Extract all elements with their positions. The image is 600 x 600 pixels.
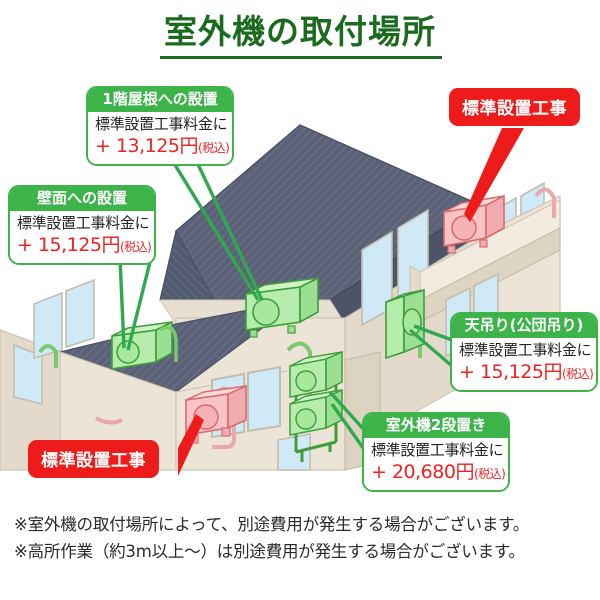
price-prefix: + — [371, 461, 386, 483]
callout-wall-price: + 15,125円(税込) — [17, 233, 147, 258]
infographic-canvas: 室外機の取付場所 — [0, 0, 600, 600]
callout-roof-1f-line1: 標準設置工事料金に — [95, 115, 225, 134]
callout-ceiling-hang-header: 天吊り(公団吊り) — [452, 314, 596, 338]
price-unit: 円 — [179, 135, 198, 157]
badge-standard-install-bottom[interactable]: 標準設置工事 — [28, 440, 159, 478]
callout-ceiling-hang-line1: 標準設置工事料金に — [459, 341, 589, 360]
callout-two-tier-line1: 標準設置工事料金に — [371, 441, 501, 460]
callout-roof-1f-header: 1階屋根への設置 — [88, 88, 232, 112]
badge-standard-install-top[interactable]: 標準設置工事 — [449, 88, 580, 126]
price-prefix: + — [459, 361, 474, 383]
callout-roof-1f-price: + 13,125円(税込) — [95, 134, 225, 159]
price-prefix: + — [17, 234, 32, 256]
price-tax: (税込) — [474, 467, 505, 481]
price-amount: 15,125 — [38, 234, 101, 256]
callout-roof-1f-body: 標準設置工事料金に + 13,125円(税込) — [88, 112, 232, 163]
price-amount: 20,680 — [392, 461, 455, 483]
footnote-2: ※高所作業（約3m以上〜）は別途費用が発生する場合がございます。 — [14, 539, 594, 566]
price-prefix: + — [95, 135, 110, 157]
price-amount: 13,125 — [116, 135, 179, 157]
price-tax: (税込) — [198, 141, 229, 155]
price-tax: (税込) — [120, 240, 151, 254]
callout-wall[interactable]: 壁面への設置 標準設置工事料金に + 15,125円(税込) — [8, 185, 156, 265]
price-unit: 円 — [455, 461, 474, 483]
callout-roof-1f[interactable]: 1階屋根への設置 標準設置工事料金に + 13,125円(税込) — [86, 86, 234, 166]
callout-ceiling-hang-body: 標準設置工事料金に + 15,125円(税込) — [452, 338, 596, 389]
price-unit: 円 — [543, 361, 562, 383]
callout-wall-header: 壁面への設置 — [10, 187, 154, 211]
callout-wall-line1: 標準設置工事料金に — [17, 214, 147, 233]
price-amount: 15,125 — [480, 361, 543, 383]
footnote-1: ※室外機の取付場所によって、別途費用が発生する場合がございます。 — [14, 512, 594, 539]
footnotes: ※室外機の取付場所によって、別途費用が発生する場合がございます。 ※高所作業（約… — [14, 512, 594, 565]
callout-ceiling-hang[interactable]: 天吊り(公団吊り) 標準設置工事料金に + 15,125円(税込) — [450, 312, 598, 392]
callout-two-tier-body: 標準設置工事料金に + 20,680円(税込) — [364, 438, 508, 489]
callout-wall-body: 標準設置工事料金に + 15,125円(税込) — [10, 211, 154, 262]
callout-ceiling-hang-price: + 15,125円(税込) — [459, 360, 589, 385]
price-unit: 円 — [101, 234, 120, 256]
callout-two-tier[interactable]: 室外機2段置き 標準設置工事料金に + 20,680円(税込) — [362, 412, 510, 492]
callout-two-tier-price: + 20,680円(税込) — [371, 460, 501, 485]
callout-two-tier-header: 室外機2段置き — [364, 414, 508, 438]
price-tax: (税込) — [562, 367, 593, 381]
